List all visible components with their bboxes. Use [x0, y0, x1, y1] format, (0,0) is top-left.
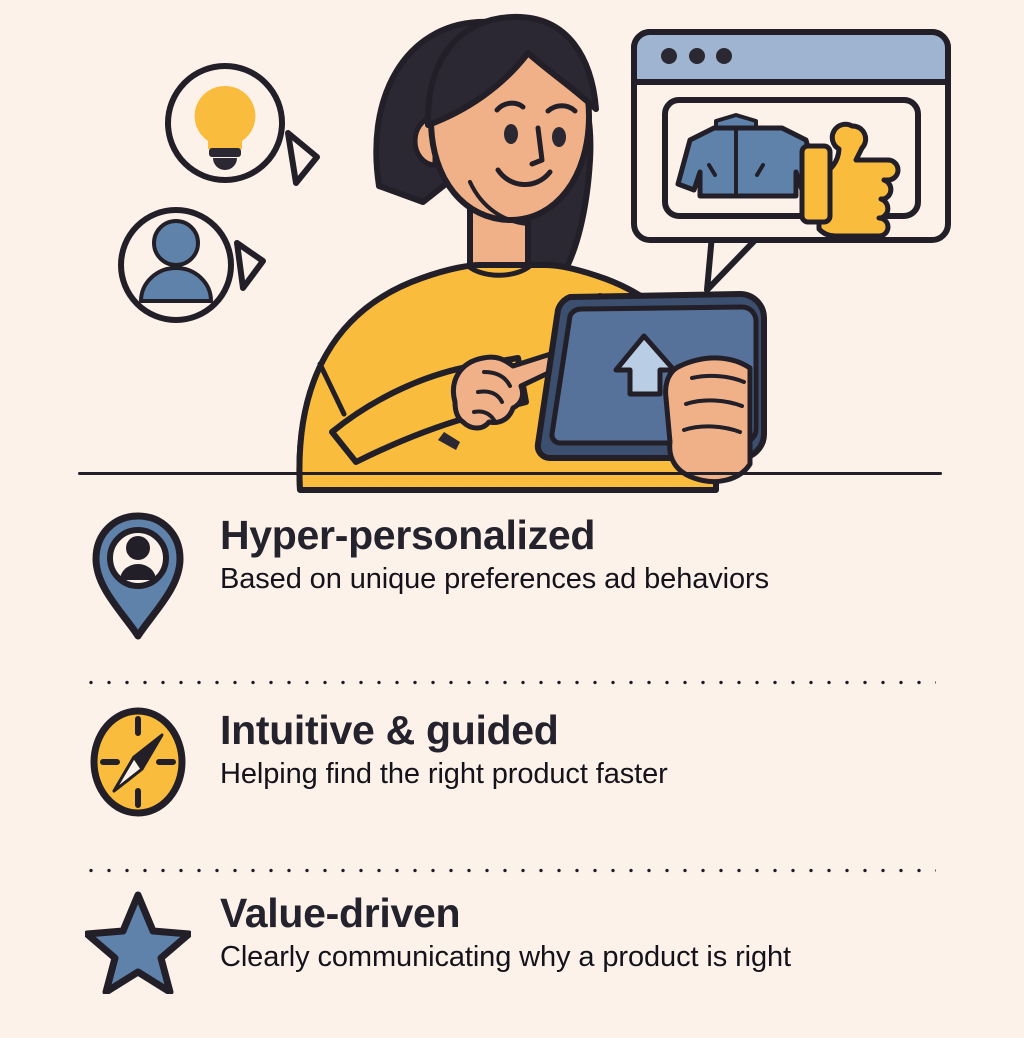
eye-right: [552, 127, 566, 147]
feature-subtitle: Helping find the right product faster: [220, 758, 668, 790]
eye-left: [504, 124, 518, 144]
feature-row-hyper-personalized: Hyper-personalized Based on unique prefe…: [78, 510, 962, 660]
desk-line: [78, 472, 942, 475]
feature-text-block: Value-driven Clearly communicating why a…: [198, 888, 791, 973]
feature-title: Intuitive & guided: [220, 709, 668, 752]
feature-row-value-driven: Value-driven Clearly communicating why a…: [78, 888, 962, 1038]
star-icon: [78, 888, 198, 1020]
feature-row-intuitive-guided: Intuitive & guided Helping find the righ…: [78, 705, 962, 855]
feature-list: Hyper-personalized Based on unique prefe…: [0, 500, 1024, 1024]
feature-text-block: Hyper-personalized Based on unique prefe…: [198, 510, 769, 595]
hero-illustration: .ln{fill:none;stroke:#221f28;stroke-widt…: [0, 0, 1024, 500]
compass-icon: [78, 705, 198, 837]
feature-subtitle: Based on unique preferences ad behaviors: [220, 563, 769, 595]
divider-dotted-1: [82, 680, 936, 685]
holding-hand: [666, 358, 750, 482]
feature-title: Hyper-personalized: [220, 514, 769, 557]
infographic-page: .ln{fill:none;stroke:#221f28;stroke-widt…: [0, 0, 1024, 1024]
feature-subtitle: Clearly communicating why a product is r…: [220, 941, 791, 973]
feature-text-block: Intuitive & guided Helping find the righ…: [198, 705, 668, 790]
location-pin-user-icon: [78, 510, 198, 642]
browser-dot: [689, 48, 705, 64]
browser-dot: [716, 48, 732, 64]
feature-title: Value-driven: [220, 892, 791, 935]
divider-dotted-2: [82, 868, 936, 873]
browser-dot: [661, 48, 677, 64]
